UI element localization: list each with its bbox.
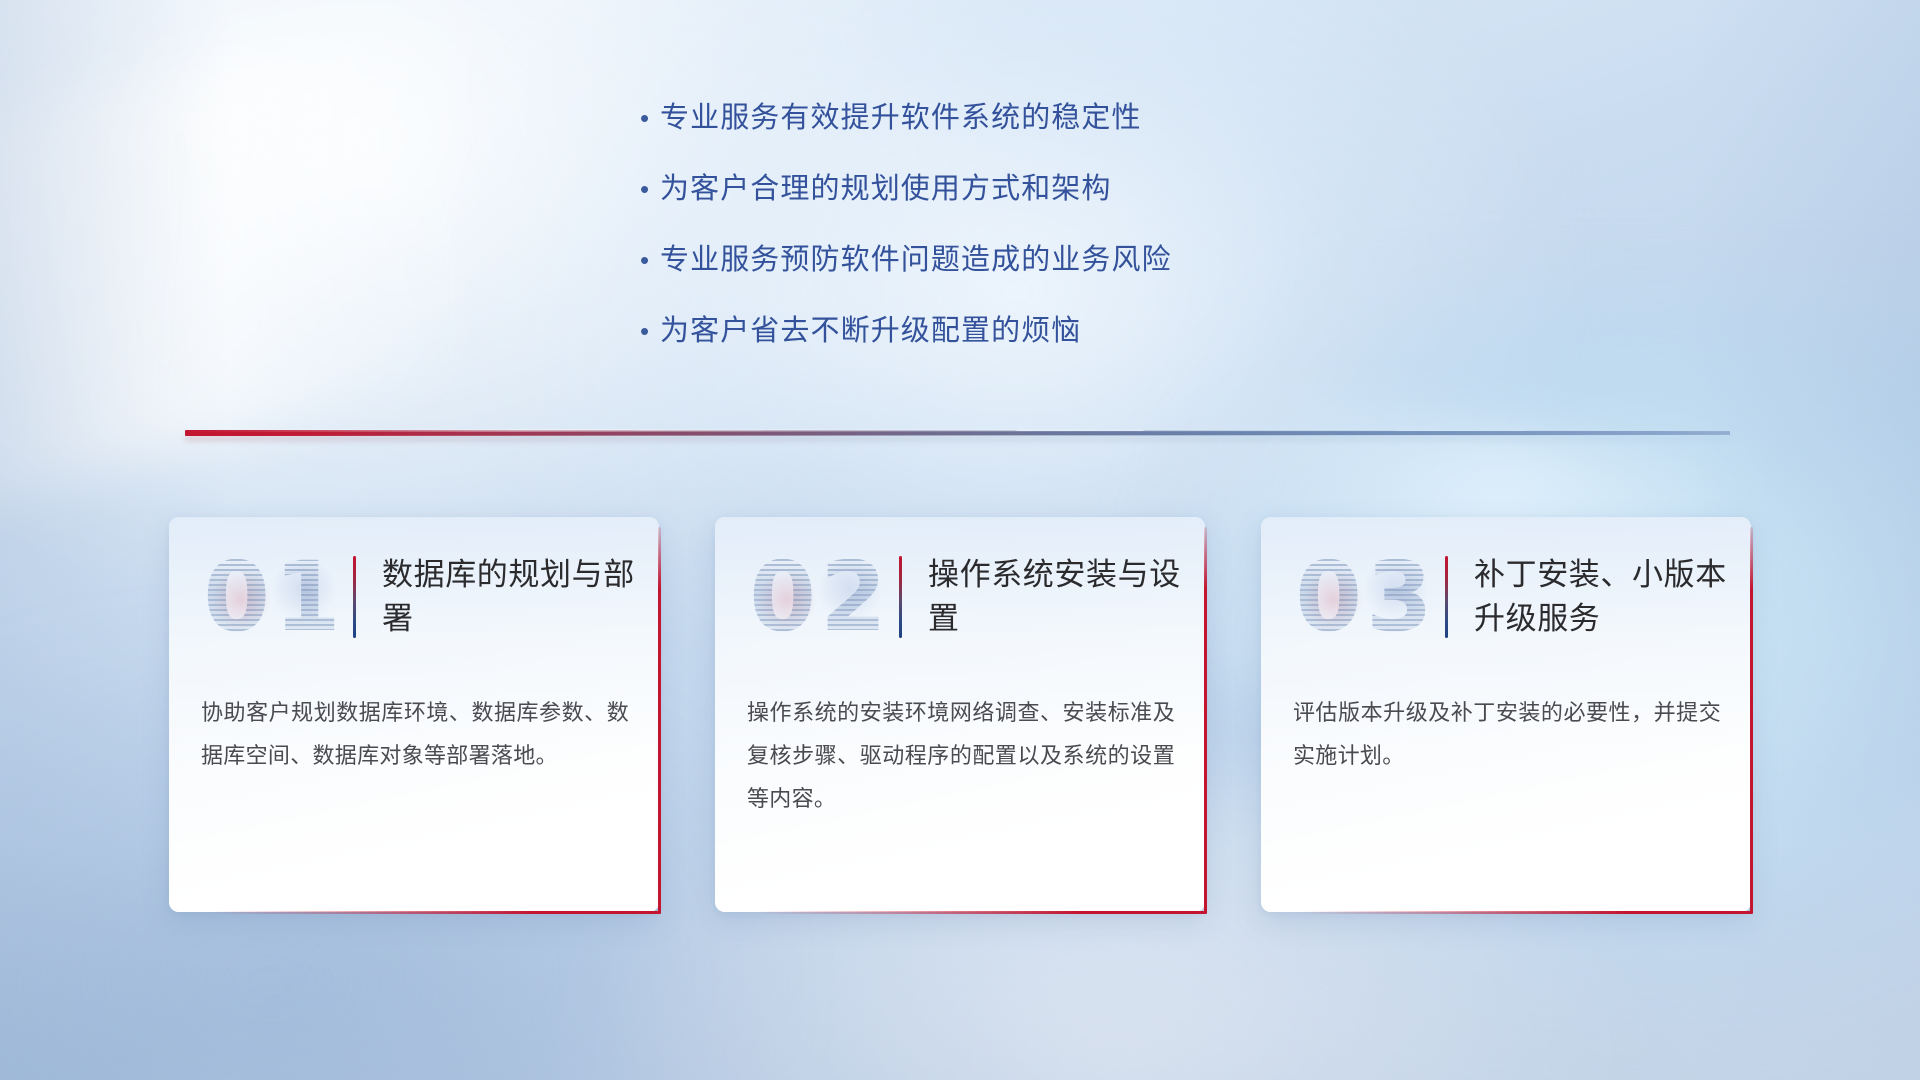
card-description: 协助客户规划数据库环境、数据库参数、数据库空间、数据库对象等部署落地。 — [169, 691, 659, 777]
list-item: • 为客户合理的规划使用方式和架构 — [640, 167, 1400, 211]
card-description: 操作系统的安装环境网络调查、安装标准及复核步骤、驱动程序的配置以及系统的设置等内… — [715, 691, 1205, 820]
card-header: 03 补丁安装、小版本升级服务 — [1261, 517, 1751, 677]
slide-content: • 专业服务有效提升软件系统的稳定性 • 为客户合理的规划使用方式和架构 • 专… — [0, 0, 1920, 1080]
card-number-watermark: 03 — [1291, 537, 1441, 657]
card-surface: 01 数据库的规划与部署 协助客户规划数据库环境、数据库参数、数据库空间、数据库… — [169, 517, 659, 912]
list-item: • 为客户省去不断升级配置的烦恼 — [640, 309, 1400, 353]
card-accent-right — [658, 527, 661, 914]
bullet-text: 专业服务预防软件问题造成的业务风险 — [660, 238, 1172, 282]
card-number-text: 01 — [203, 549, 345, 645]
card-title: 操作系统安装与设置 — [928, 553, 1205, 641]
card-title: 补丁安装、小版本升级服务 — [1474, 553, 1751, 641]
card-header: 02 操作系统安装与设置 — [715, 517, 1205, 677]
card-title-divider — [899, 556, 902, 638]
card-accent-bottom — [209, 911, 661, 914]
bullet-dot-icon: • — [640, 309, 660, 353]
list-item: • 专业服务预防软件问题造成的业务风险 — [640, 238, 1400, 282]
card-number-watermark: 02 — [745, 537, 895, 657]
card-accent-bottom — [1301, 911, 1753, 914]
bullet-text: 专业服务有效提升软件系统的稳定性 — [660, 96, 1142, 140]
bullet-dot-icon: • — [640, 96, 660, 140]
card-description: 评估版本升级及补丁安装的必要性，并提交实施计划。 — [1261, 691, 1751, 777]
service-card-03[interactable]: 03 补丁安装、小版本升级服务 评估版本升级及补丁安装的必要性，并提交实施计划。 — [1261, 517, 1751, 912]
card-number-watermark: 01 — [199, 537, 349, 657]
bullet-dot-icon: • — [640, 238, 660, 282]
card-title-divider — [353, 556, 356, 638]
card-accent-bottom — [755, 911, 1207, 914]
card-surface: 02 操作系统安装与设置 操作系统的安装环境网络调查、安装标准及复核步骤、驱动程… — [715, 517, 1205, 912]
card-header: 01 数据库的规划与部署 — [169, 517, 659, 677]
card-accent-right — [1750, 527, 1753, 914]
card-number-text: 03 — [1295, 549, 1437, 645]
divider-shadow — [185, 436, 1730, 441]
bullet-text: 为客户省去不断升级配置的烦恼 — [660, 309, 1081, 353]
service-card-02[interactable]: 02 操作系统安装与设置 操作系统的安装环境网络调查、安装标准及复核步骤、驱动程… — [715, 517, 1205, 912]
section-divider — [185, 426, 1730, 440]
card-surface: 03 补丁安装、小版本升级服务 评估版本升级及补丁安装的必要性，并提交实施计划。 — [1261, 517, 1751, 912]
list-item: • 专业服务有效提升软件系统的稳定性 — [640, 96, 1400, 140]
card-title-divider — [1445, 556, 1448, 638]
service-card-01[interactable]: 01 数据库的规划与部署 协助客户规划数据库环境、数据库参数、数据库空间、数据库… — [169, 517, 659, 912]
benefits-bullet-list: • 专业服务有效提升软件系统的稳定性 • 为客户合理的规划使用方式和架构 • 专… — [640, 96, 1400, 380]
card-title: 数据库的规划与部署 — [382, 553, 659, 641]
bullet-dot-icon: • — [640, 167, 660, 211]
service-cards-row: 01 数据库的规划与部署 协助客户规划数据库环境、数据库参数、数据库空间、数据库… — [0, 517, 1920, 912]
bullet-text: 为客户合理的规划使用方式和架构 — [660, 167, 1112, 211]
card-accent-right — [1204, 527, 1207, 914]
card-number-text: 02 — [749, 549, 891, 645]
